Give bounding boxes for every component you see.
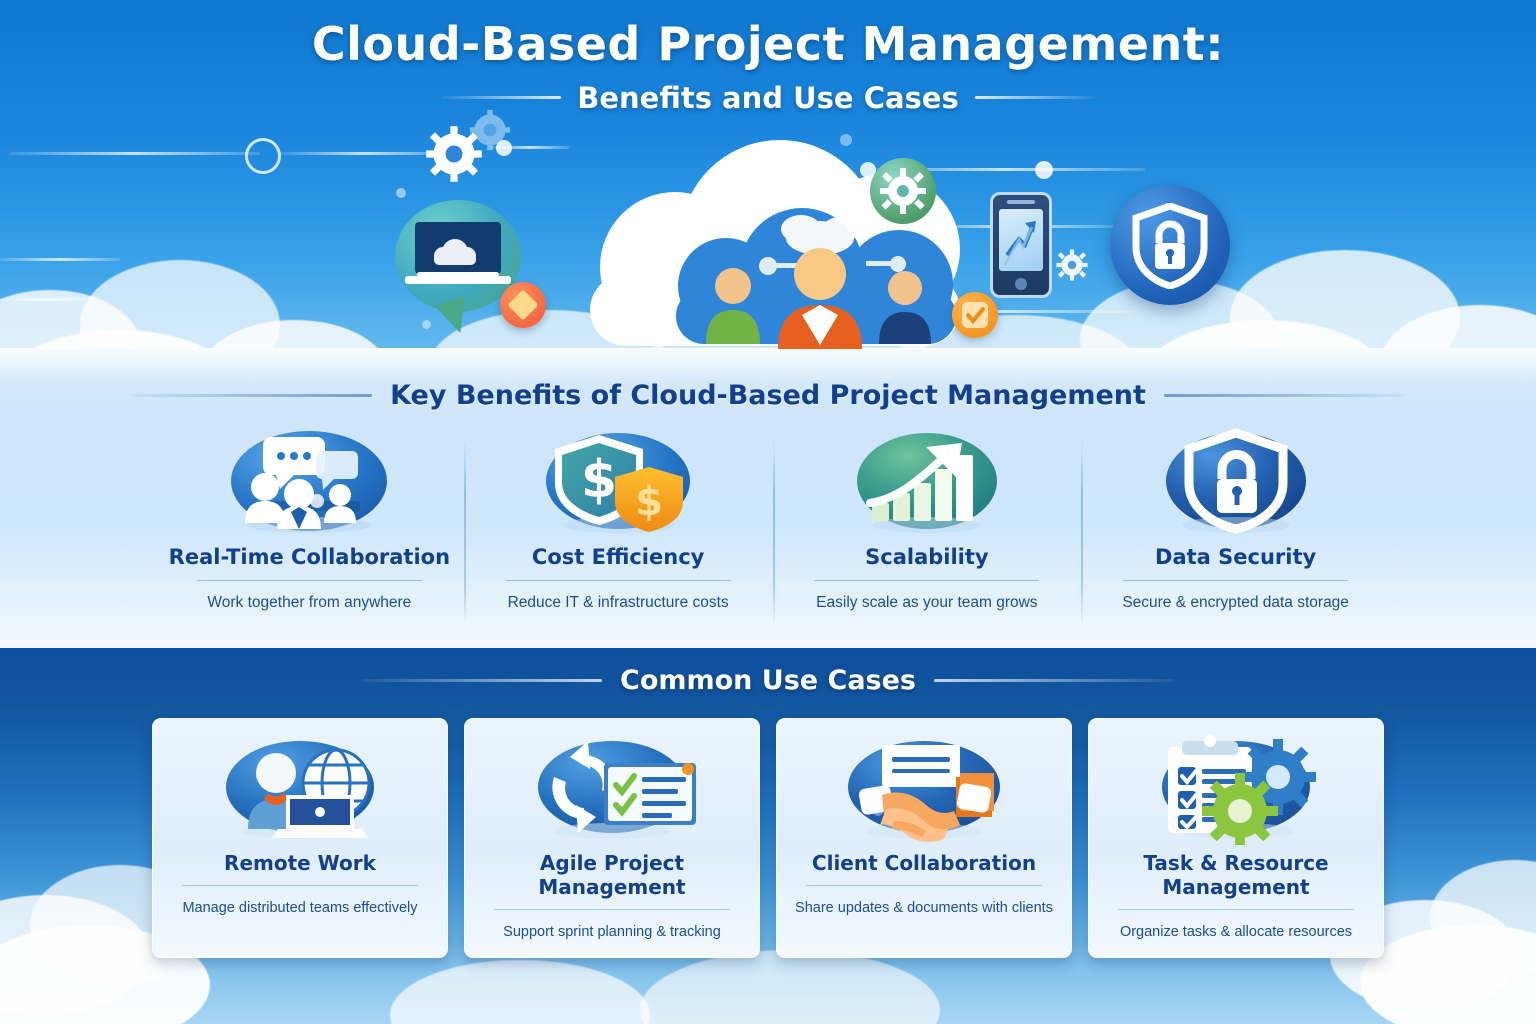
shield-lock-icon bbox=[1141, 425, 1331, 537]
benefit-rule bbox=[197, 580, 422, 581]
usecase-rule bbox=[494, 909, 730, 910]
benefits-heading-text: Key Benefits of Cloud-Based Project Mana… bbox=[390, 380, 1146, 411]
subtitle-rule-left bbox=[441, 96, 561, 99]
usecase-rule bbox=[1118, 909, 1354, 910]
network-line bbox=[10, 152, 260, 155]
svg-text:$: $ bbox=[635, 479, 663, 525]
gear-icon bbox=[870, 158, 936, 224]
usecases-section-heading: Common Use Cases bbox=[0, 665, 1536, 696]
heading-rule-left bbox=[132, 394, 372, 397]
usecases-row: Remote Work Manage distributed teams eff… bbox=[152, 718, 1384, 958]
laptop-screen bbox=[415, 222, 501, 274]
usecases-heading-text: Common Use Cases bbox=[620, 665, 916, 696]
benefit-title: Data Security bbox=[1091, 545, 1380, 569]
benefit-rule bbox=[506, 580, 731, 581]
laptop-base bbox=[405, 276, 511, 284]
page-subtitle: Benefits and Use Cases bbox=[577, 81, 959, 115]
usecase-rule bbox=[182, 885, 418, 886]
team-people-icon bbox=[670, 204, 970, 344]
growth-chart-icon bbox=[832, 425, 1022, 537]
benefit-title: Real-Time Collaboration bbox=[165, 545, 454, 569]
benefit-item-collaboration[interactable]: Real-Time Collaboration Work together fr… bbox=[155, 425, 464, 640]
benefit-item-cost[interactable]: $ $ Cost Efficiency Reduce IT & infrastr… bbox=[464, 425, 773, 640]
benefit-item-scalability[interactable]: Scalability Easily scale as your team gr… bbox=[773, 425, 1082, 640]
smartphone-chart-icon bbox=[990, 192, 1052, 298]
usecase-card-task-resource[interactable]: Task & Resource Management Organize task… bbox=[1088, 718, 1384, 958]
laptop-hinge bbox=[417, 272, 499, 277]
hero-illustration bbox=[300, 130, 1260, 370]
network-dot bbox=[396, 188, 406, 198]
usecase-card-client-collaboration[interactable]: Client Collaboration Share updates & doc… bbox=[776, 718, 1072, 958]
heading-rule-left bbox=[362, 679, 602, 682]
clipboard-gears-icon bbox=[1099, 733, 1373, 845]
benefit-rule bbox=[1123, 580, 1348, 581]
network-dot bbox=[422, 320, 431, 329]
benefit-description: Secure & encrypted data storage bbox=[1091, 594, 1380, 612]
people-chat-icon bbox=[214, 425, 404, 537]
benefit-description: Work together from anywhere bbox=[165, 594, 454, 612]
benefit-description: Easily scale as your team grows bbox=[783, 594, 1072, 612]
subtitle-rule-right bbox=[975, 96, 1095, 99]
network-line bbox=[0, 258, 120, 261]
shield-lock-icon bbox=[1110, 185, 1230, 305]
usecase-card-remote-work[interactable]: Remote Work Manage distributed teams eff… bbox=[152, 718, 448, 958]
benefit-item-security[interactable]: Data Security Secure & encrypted data st… bbox=[1081, 425, 1390, 640]
usecase-title: Remote Work bbox=[163, 851, 437, 875]
page-title: Cloud-Based Project Management: bbox=[0, 18, 1536, 71]
infographic-canvas: Cloud-Based Project Management: Benefits… bbox=[0, 0, 1536, 1024]
network-dot bbox=[1035, 161, 1053, 179]
usecase-description: Organize tasks & allocate resources bbox=[1099, 923, 1373, 941]
usecase-rule bbox=[806, 885, 1042, 886]
shield-dollar-icon: $ $ bbox=[523, 425, 713, 537]
usecase-card-agile[interactable]: Agile Project Management Support sprint … bbox=[464, 718, 760, 958]
network-ring bbox=[245, 138, 281, 174]
heading-rule-right bbox=[934, 679, 1174, 682]
benefit-description: Reduce IT & infrastructure costs bbox=[474, 594, 763, 612]
gear-icon bbox=[1055, 248, 1089, 282]
handshake-document-icon bbox=[787, 733, 1061, 845]
usecase-title: Agile Project Management bbox=[475, 851, 749, 899]
subtitle-row: Benefits and Use Cases bbox=[0, 81, 1536, 115]
usecase-description: Share updates & documents with clients bbox=[787, 899, 1061, 917]
benefits-section-heading: Key Benefits of Cloud-Based Project Mana… bbox=[0, 380, 1536, 411]
usecase-title: Task & Resource Management bbox=[1099, 851, 1373, 899]
usecase-description: Support sprint planning & tracking bbox=[475, 923, 749, 941]
benefit-title: Scalability bbox=[783, 545, 1072, 569]
gear-icon bbox=[468, 108, 512, 152]
usecase-description: Manage distributed teams effectively bbox=[163, 899, 437, 917]
refresh-checklist-icon bbox=[475, 733, 749, 845]
person-laptop-globe-icon bbox=[163, 733, 437, 845]
benefit-rule bbox=[814, 580, 1039, 581]
benefit-title: Cost Efficiency bbox=[474, 545, 763, 569]
svg-text:$: $ bbox=[581, 450, 617, 510]
checkmark-badge-icon bbox=[952, 292, 998, 338]
benefits-row: Real-Time Collaboration Work together fr… bbox=[155, 425, 1390, 640]
usecase-title: Client Collaboration bbox=[787, 851, 1061, 875]
network-line bbox=[0, 298, 90, 301]
header: Cloud-Based Project Management: Benefits… bbox=[0, 18, 1536, 115]
heading-rule-right bbox=[1164, 394, 1404, 397]
